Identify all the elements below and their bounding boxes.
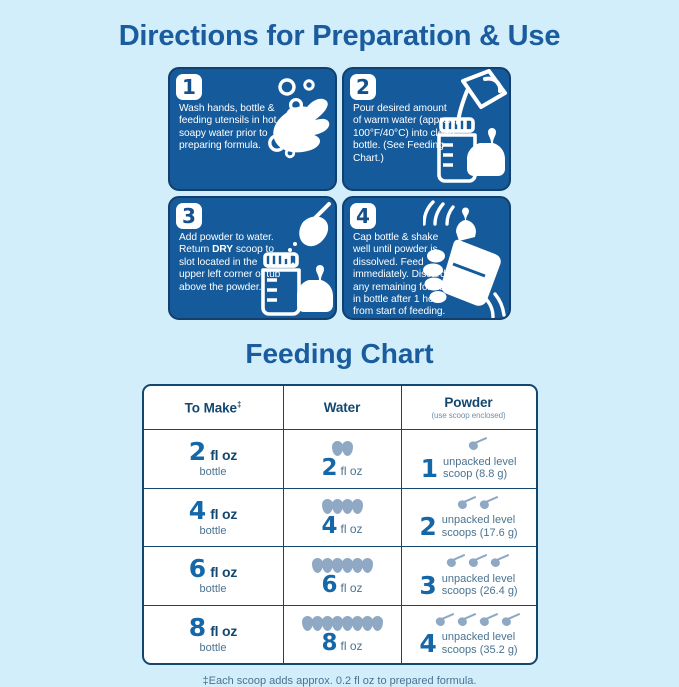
- powder-description: unpacked levelscoops (26.4 g): [442, 573, 518, 598]
- water-drop-icon: [332, 558, 343, 573]
- powder-number: 4: [419, 631, 436, 656]
- powder-line-1: unpacked level: [442, 631, 515, 643]
- cell-to-make: 2 fl oz bottle: [144, 430, 284, 488]
- header-label-water: Water: [324, 400, 361, 415]
- powder-line-2: scoop (8.8 g): [443, 468, 507, 480]
- water-drop-icon: [312, 558, 323, 573]
- scoop-pouring-powder-icon: [249, 198, 335, 320]
- scoop-icon: [466, 554, 487, 572]
- scoop-icon: [444, 554, 465, 572]
- cell-to-make: 8 fl oz bottle: [144, 606, 284, 664]
- powder-value: 2 unpacked levelscoops (17.6 g): [419, 514, 517, 539]
- step-card-1: 1 Wash hands, bottle & feeding utensils …: [168, 67, 337, 191]
- feeding-chart-table: To Make‡ Water Powder (use scoop enclose…: [142, 384, 538, 665]
- to-make-number: 8: [189, 615, 206, 640]
- water-drop-icon: [372, 616, 383, 631]
- directions-steps-grid: 1 Wash hands, bottle & feeding utensils …: [165, 67, 515, 320]
- water-number: 4: [321, 515, 337, 538]
- water-value: 8 fl oz: [321, 632, 362, 655]
- water-unit: fl oz: [341, 522, 363, 536]
- water-drop-icon: [352, 558, 363, 573]
- to-make-value: 8 fl oz: [189, 615, 237, 640]
- powder-number: 2: [419, 514, 436, 539]
- water-drop-icon: [342, 558, 353, 573]
- scoop-icons: [466, 437, 487, 456]
- to-make-unit: fl oz: [210, 506, 237, 522]
- cell-water: 4 fl oz: [284, 489, 402, 547]
- water-drop-icons: [332, 438, 352, 456]
- feeding-chart-title: Feeding Chart: [0, 320, 679, 368]
- water-value: 2 fl oz: [321, 457, 362, 480]
- to-make-sublabel: bottle: [200, 583, 227, 595]
- scoop-icon: [477, 613, 498, 631]
- water-drop-icon: [322, 499, 333, 514]
- powder-description: unpacked levelscoops (17.6 g): [442, 514, 518, 539]
- water-value: 4 fl oz: [321, 515, 362, 538]
- step-text-3-bold: DRY: [212, 244, 233, 255]
- water-drop-icon: [352, 616, 363, 631]
- to-make-number: 2: [189, 439, 206, 464]
- powder-value: 3 unpacked levelscoops (26.4 g): [419, 573, 517, 598]
- to-make-sublabel: bottle: [200, 466, 227, 478]
- hands-washing-icon: [263, 69, 335, 191]
- powder-line-1: unpacked level: [442, 573, 515, 585]
- water-drop-icon: [342, 441, 353, 456]
- step-number-badge-4: 4: [350, 203, 376, 229]
- water-drop-icon: [332, 616, 343, 631]
- cell-to-make: 6 fl oz bottle: [144, 547, 284, 605]
- scoop-icons: [444, 554, 509, 573]
- step-card-3: 3 Add powder to water. Return DRY scoop …: [168, 196, 337, 320]
- scoop-icon: [455, 613, 476, 631]
- table-row: 8 fl oz bottle 8 fl oz 4 unpacked levels…: [144, 606, 536, 664]
- powder-value: 4 unpacked levelscoops (35.2 g): [419, 631, 517, 656]
- water-drop-icon: [302, 616, 313, 631]
- water-drop-icon: [342, 616, 353, 631]
- water-drop-icon: [362, 616, 373, 631]
- pitcher-pouring-into-bottle-icon: [423, 69, 509, 191]
- table-row: 4 fl oz bottle 4 fl oz 2 unpacked levels…: [144, 489, 536, 548]
- cell-powder: 1 unpacked levelscoop (8.8 g): [402, 430, 536, 488]
- to-make-sublabel: bottle: [200, 525, 227, 537]
- water-value: 6 fl oz: [321, 574, 362, 597]
- cell-water: 6 fl oz: [284, 547, 402, 605]
- header-to-make-marker: ‡: [237, 400, 241, 409]
- water-drop-icon: [322, 558, 333, 573]
- scoop-icons: [455, 495, 498, 514]
- cell-powder: 2 unpacked levelscoops (17.6 g): [402, 489, 536, 547]
- step-number-badge-2: 2: [350, 74, 376, 100]
- water-drop-icon: [312, 616, 323, 631]
- table-row: 6 fl oz bottle 6 fl oz 3 unpacked levels…: [144, 547, 536, 606]
- header-cell-water: Water: [284, 386, 402, 429]
- to-make-number: 4: [189, 498, 206, 523]
- step-text-1-content: Wash hands, bottle & feeding utensils in…: [179, 103, 276, 151]
- step-number-badge-1: 1: [176, 74, 202, 100]
- cell-to-make: 4 fl oz bottle: [144, 489, 284, 547]
- to-make-value: 6 fl oz: [189, 556, 237, 581]
- scoop-icons: [433, 612, 520, 631]
- scoop-icon: [466, 437, 487, 455]
- step-number-badge-3: 3: [176, 203, 202, 229]
- powder-line-2: scoops (35.2 g): [442, 644, 518, 656]
- powder-number: 1: [421, 456, 438, 481]
- water-drop-icons: [302, 613, 382, 631]
- header-cell-to-make: To Make‡: [144, 386, 284, 429]
- powder-description: unpacked levelscoop (8.8 g): [443, 456, 516, 481]
- header-cell-powder: Powder (use scoop enclosed): [402, 386, 536, 429]
- header-label-powder: Powder: [444, 395, 492, 410]
- powder-number: 3: [419, 573, 436, 598]
- to-make-sublabel: bottle: [200, 642, 227, 654]
- table-row: 2 fl oz bottle 2 fl oz 1 unpacked levels…: [144, 430, 536, 489]
- header-to-make-text: To Make: [185, 400, 237, 415]
- water-drop-icon: [322, 616, 333, 631]
- water-drop-icons: [322, 496, 362, 514]
- to-make-unit: fl oz: [210, 447, 237, 463]
- to-make-value: 2 fl oz: [189, 439, 237, 464]
- scoop-icon: [477, 496, 498, 514]
- to-make-number: 6: [189, 556, 206, 581]
- powder-line-2: scoops (26.4 g): [442, 585, 518, 597]
- water-drop-icons: [312, 555, 372, 573]
- water-drop-icon: [342, 499, 353, 514]
- water-number: 6: [321, 574, 337, 597]
- water-unit: fl oz: [341, 639, 363, 653]
- water-drop-icon: [362, 558, 373, 573]
- cell-water: 2 fl oz: [284, 430, 402, 488]
- step-card-2: 2 Pour desired amount of warm water (app…: [342, 67, 511, 191]
- powder-line-2: scoops (17.6 g): [442, 527, 518, 539]
- to-make-unit: fl oz: [210, 564, 237, 580]
- header-label-to-make: To Make‡: [185, 400, 242, 416]
- powder-value: 1 unpacked levelscoop (8.8 g): [421, 456, 517, 481]
- water-unit: fl oz: [341, 464, 363, 478]
- scoop-icon: [488, 554, 509, 572]
- hand-shaking-bottle-icon: [423, 198, 509, 320]
- powder-line-1: unpacked level: [443, 456, 516, 468]
- water-number: 8: [321, 632, 337, 655]
- cell-powder: 3 unpacked levelscoops (26.4 g): [402, 547, 536, 605]
- water-number: 2: [321, 457, 337, 480]
- scoop-icon: [433, 613, 454, 631]
- header-sublabel-powder: (use scoop enclosed): [431, 411, 505, 420]
- page-title: Directions for Preparation & Use: [0, 0, 679, 51]
- table-header-row: To Make‡ Water Powder (use scoop enclose…: [144, 386, 536, 430]
- scoop-icon: [499, 613, 520, 631]
- water-drop-icon: [332, 499, 343, 514]
- powder-line-1: unpacked level: [442, 514, 515, 526]
- water-drop-icon: [352, 499, 363, 514]
- cell-water: 8 fl oz: [284, 606, 402, 664]
- scoop-icon: [455, 496, 476, 514]
- feeding-chart-footnote: ‡Each scoop adds approx. 0.2 fl oz to pr…: [0, 665, 679, 687]
- step-card-4: 4 Cap bottle & shake well until powder i…: [342, 196, 511, 320]
- powder-description: unpacked levelscoops (35.2 g): [442, 631, 518, 656]
- water-drop-icon: [332, 441, 343, 456]
- to-make-value: 4 fl oz: [189, 498, 237, 523]
- to-make-unit: fl oz: [210, 623, 237, 639]
- cell-powder: 4 unpacked levelscoops (35.2 g): [402, 606, 536, 664]
- water-unit: fl oz: [341, 581, 363, 595]
